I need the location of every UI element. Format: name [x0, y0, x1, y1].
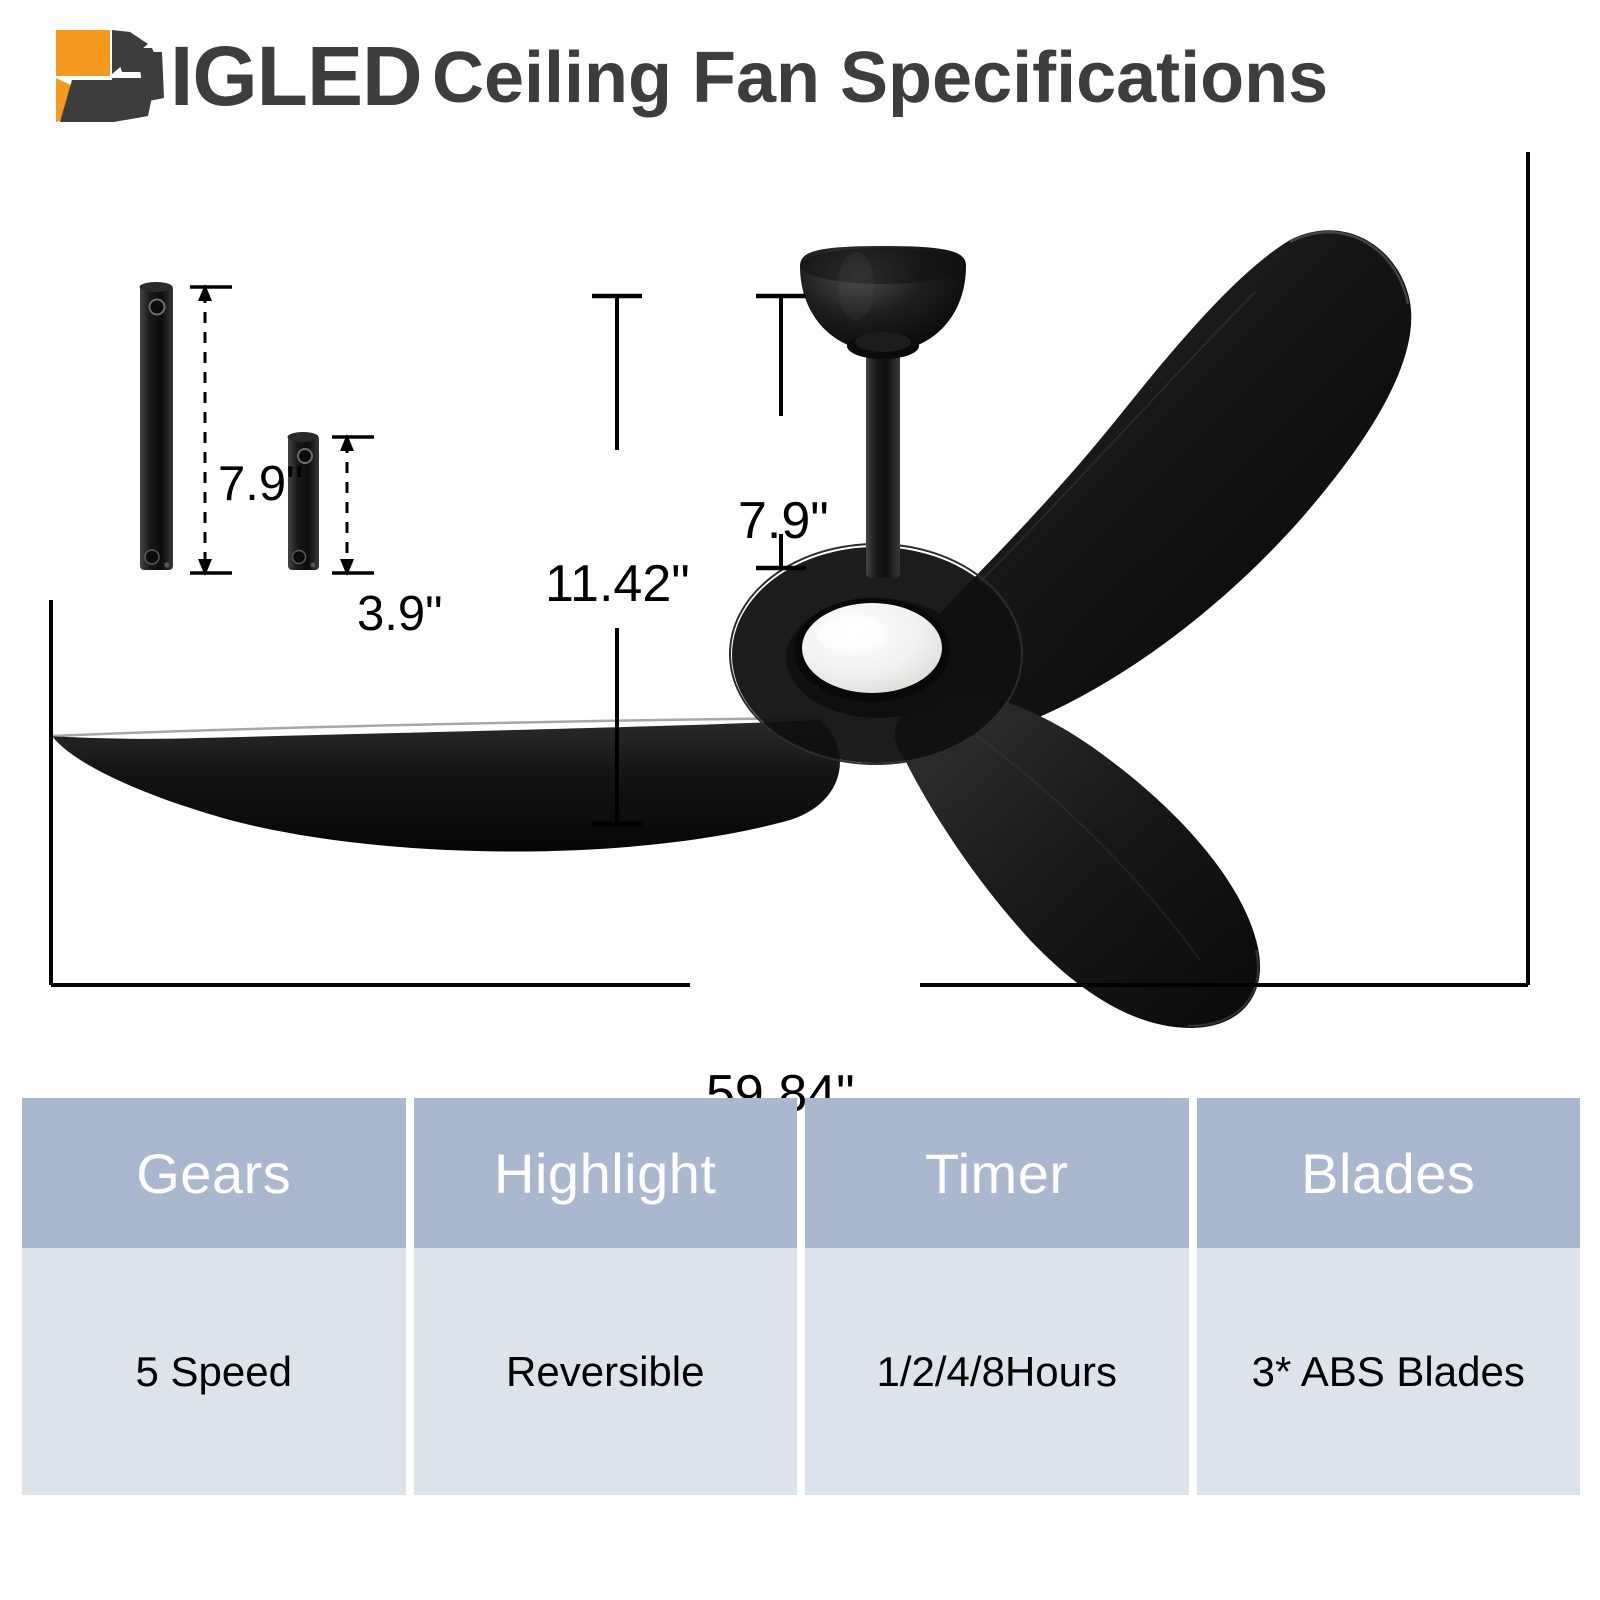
dimension-line-rod-long — [190, 284, 232, 576]
page-title: Ceiling Fan Specifications — [432, 32, 1328, 124]
table-header-timer: Timer — [805, 1098, 1189, 1248]
dimension-label-height: 7.9" — [738, 491, 829, 551]
led-light-lens — [794, 598, 950, 702]
specifications-table: Gears Highlight Timer Blades 5 Speed Rev… — [22, 1098, 1580, 1495]
fan-diagram: 7.9" 3.9" 11.42" 7.9" 59.84" — [0, 120, 1600, 1060]
fan-downrod — [866, 348, 900, 578]
table-header-blades: Blades — [1197, 1098, 1581, 1248]
fan-blade-left — [52, 718, 840, 852]
table-cell-timer: 1/2/4/8Hours — [805, 1248, 1189, 1495]
aperture-logo-icon — [52, 28, 170, 124]
dimension-label-rod-long: 7.9" — [218, 456, 304, 512]
dimension-line-rod-short — [332, 434, 374, 576]
brand-wordmark: IGLED — [170, 30, 422, 122]
long-downrod — [140, 282, 174, 570]
table-header-highlight: Highlight — [414, 1098, 798, 1248]
dimension-label-rod-short: 3.9" — [357, 586, 443, 642]
table-cell-gears: 5 Speed — [22, 1248, 406, 1495]
page-header: IGLED Ceiling Fan Specifications — [0, 0, 1600, 140]
table-cell-blades: 3* ABS Blades — [1197, 1248, 1581, 1495]
table-header-gears: Gears — [22, 1098, 406, 1248]
dimension-label-drop: 11.42" — [545, 554, 690, 614]
ceiling-canopy — [800, 246, 966, 359]
table-cell-highlight: Reversible — [414, 1248, 798, 1495]
fan-illustration — [0, 120, 1600, 1060]
